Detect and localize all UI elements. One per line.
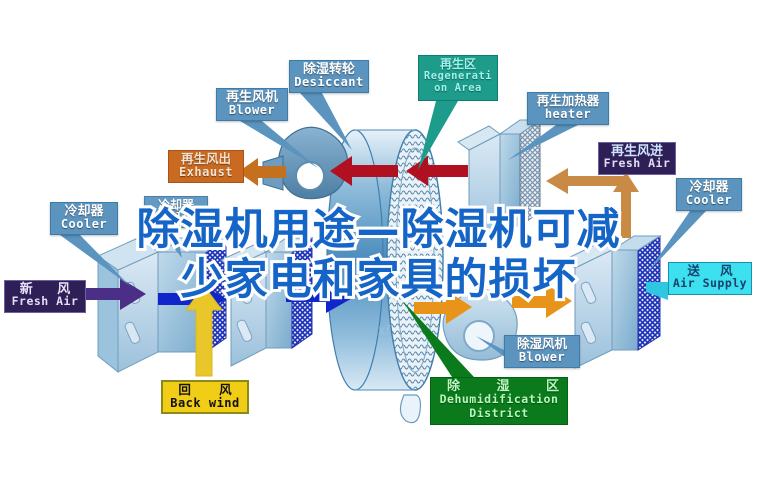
headline-line-2: 少家电和家具的损坏 [0,255,757,305]
label-regen-blower-cn: 再生风机 [217,91,287,104]
label-regen-fresh-air: 再生风进 Fresh Air [598,142,676,175]
label-exhaust: 再生风出 Exhaust [168,150,244,183]
label-dehum-district: 除 湿 区 Dehumidification District [430,377,568,425]
label-regen-heater-cn: 再生加热器 [528,95,608,108]
label-regen-blower: 再生风机 Blower [216,88,288,121]
label-dehum-blower-cn: 除湿风机 [505,338,579,351]
label-regen-heater-en: heater [528,108,608,120]
label-regen-area-en: Regenerati on Area [419,70,497,94]
condensate-drop [400,395,420,423]
label-cooler-right-cn: 冷却器 [677,181,741,194]
label-regen-fresh-air-en: Fresh Air [599,158,675,170]
label-regen-blower-en: Blower [217,104,287,116]
label-regen-heater: 再生加热器 heater [527,92,609,125]
headline-overlay: 除湿机用途—除湿机可减 少家电和家具的损坏 [0,205,757,305]
label-regen-area-cn: 再生区 [419,58,497,70]
svg-text:xf: xf [378,324,391,339]
label-back-wind-cn: 回 风 [163,384,247,397]
dehumidifier-schematic-image: xf [0,0,757,488]
headline-line-1: 除湿机用途—除湿机可减 [0,205,757,255]
label-back-wind-en: Back wind [163,397,247,409]
label-back-wind: 回 风 Back wind [161,380,249,414]
label-desiccant-wheel: 除湿转轮 Desiccant [289,60,369,93]
label-dehum-district-en: Dehumidification District [431,393,567,421]
label-exhaust-en: Exhaust [169,166,243,178]
label-regen-area: 再生区 Regenerati on Area [418,55,498,101]
label-exhaust-cn: 再生风出 [169,153,243,166]
label-desiccant-wheel-en: Desiccant [290,76,368,88]
label-dehum-blower-en: Blower [505,351,579,363]
label-dehum-blower: 除湿风机 Blower [504,335,580,368]
